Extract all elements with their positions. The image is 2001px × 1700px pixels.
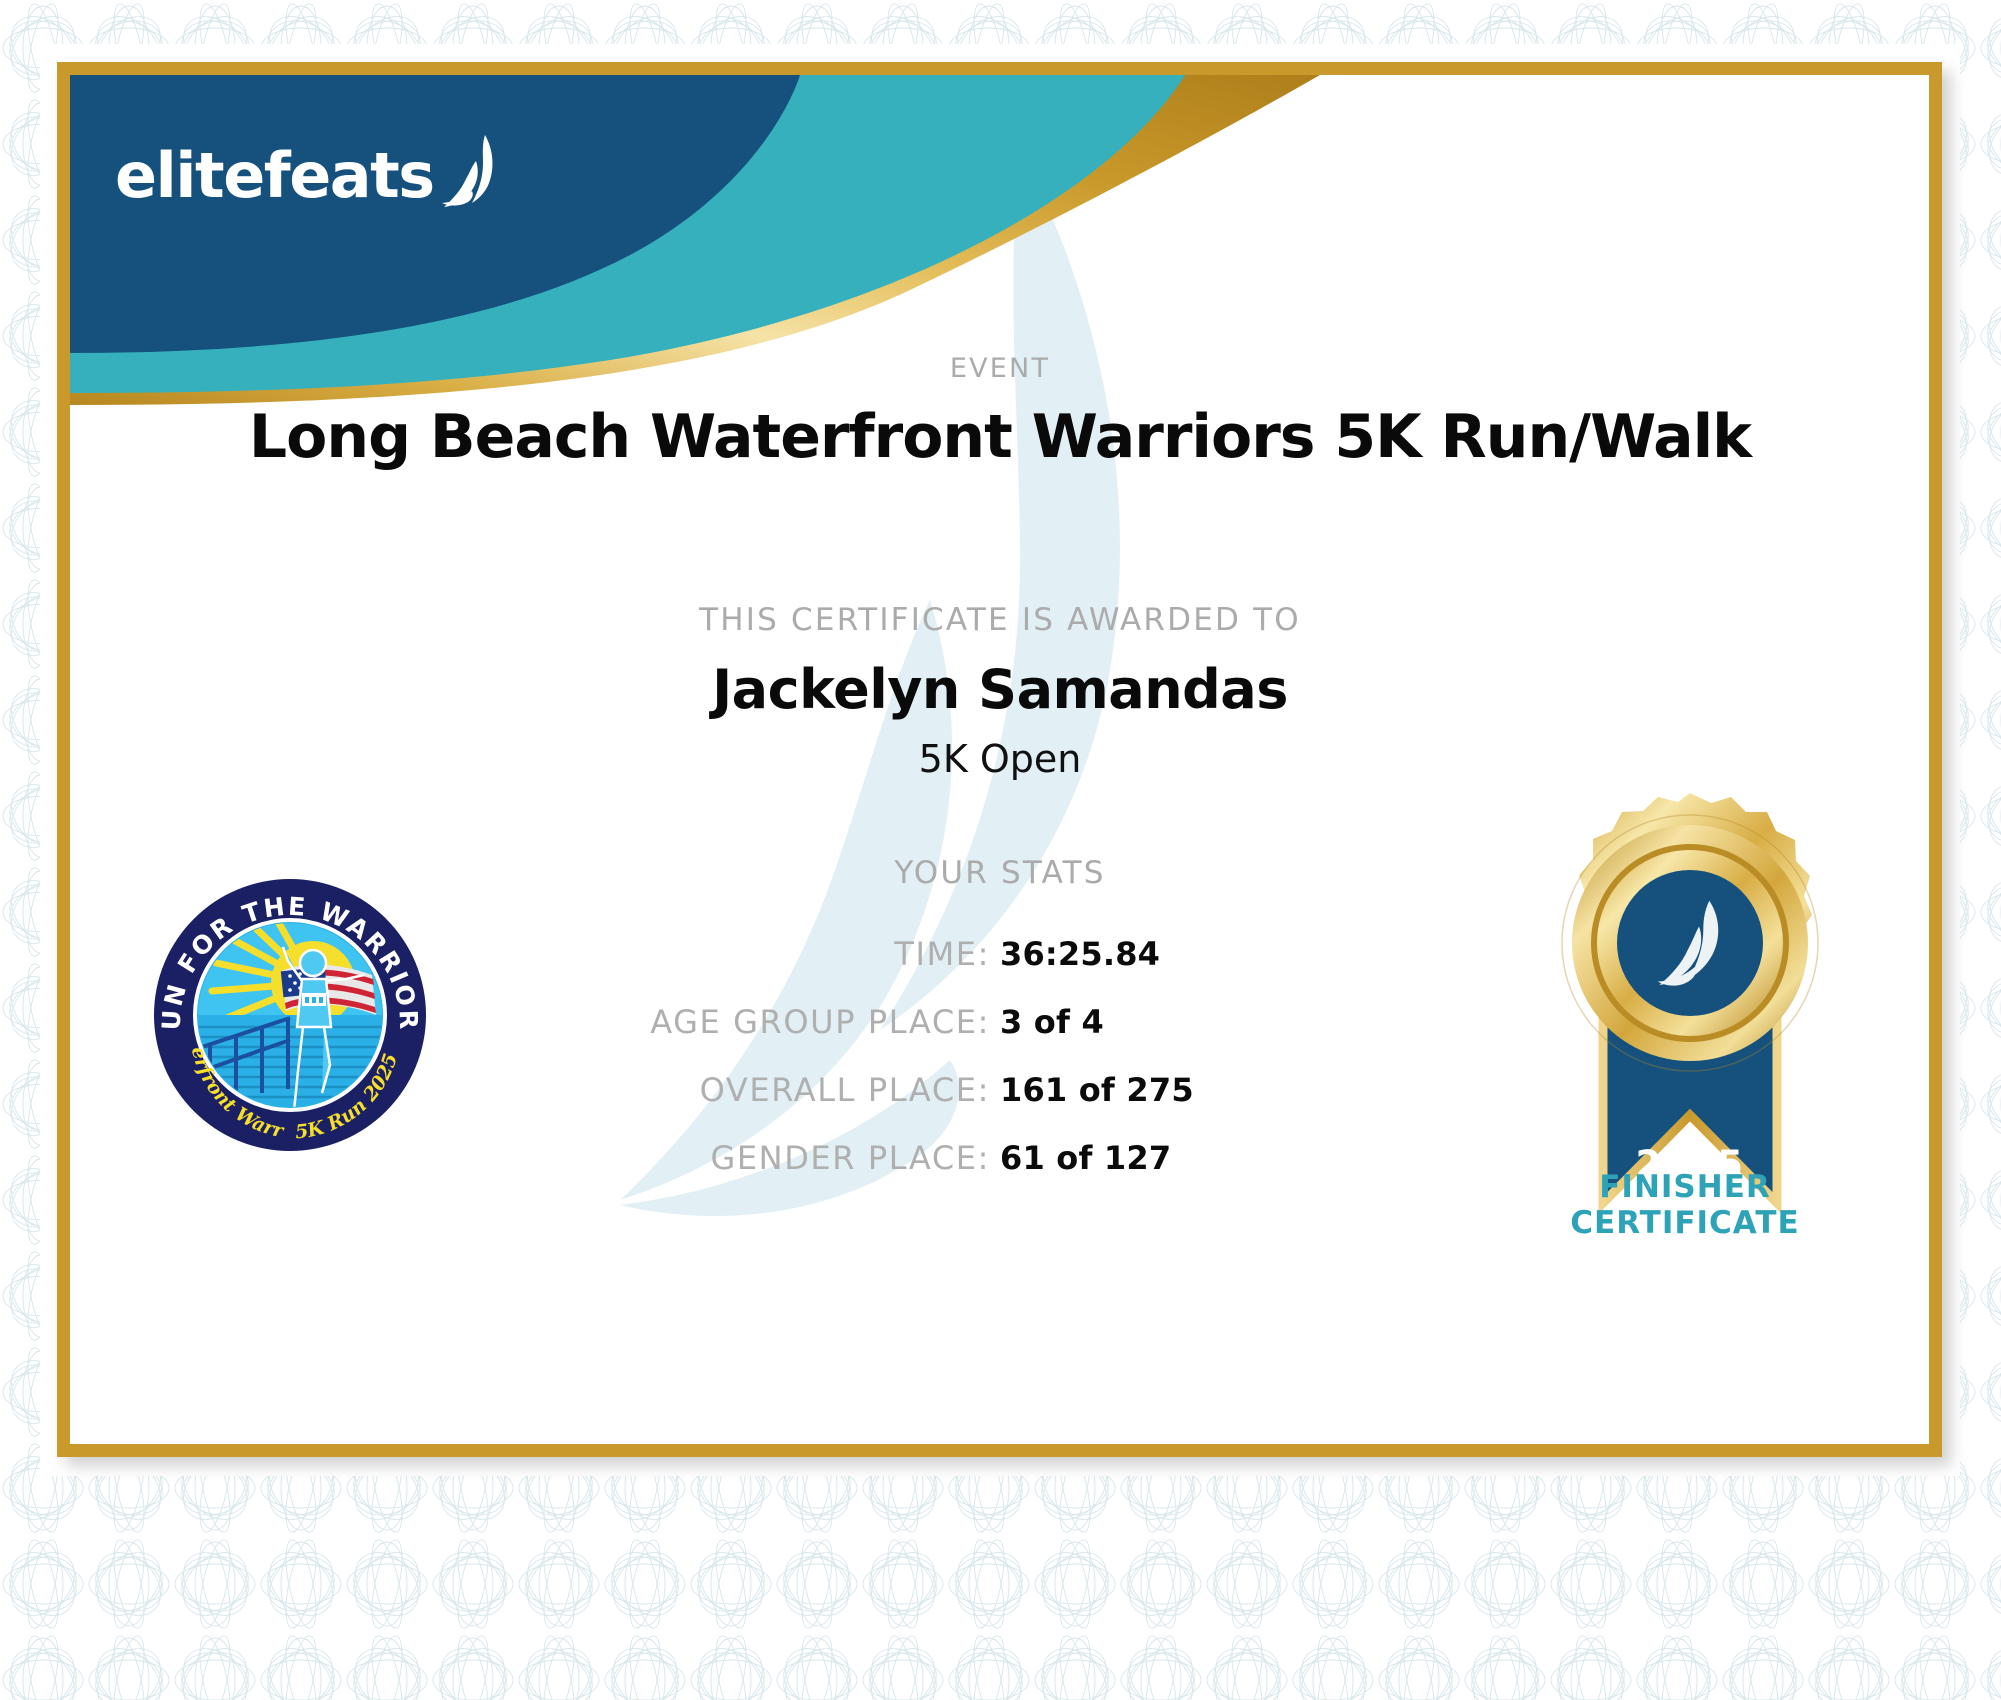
division-label: 5K Open [70, 737, 1929, 781]
finisher-caption-line1: FINISHER [1485, 1170, 1885, 1206]
stat-value-time: 36:25.84 [1000, 935, 1590, 973]
event-label: EVENT [70, 353, 1929, 384]
event-title: Long Beach Waterfront Warriors 5K Run/Wa… [70, 402, 1929, 472]
awarded-to-label: THIS CERTIFICATE IS AWARDED TO [70, 602, 1929, 638]
recipient-name: Jackelyn Samandas [70, 658, 1929, 721]
stat-label-overall-place: OVERALL PLACE: [410, 1071, 1000, 1109]
certificate-content: EVENT Long Beach Waterfront Warriors 5K … [70, 75, 1929, 1444]
stat-label-gender-place: GENDER PLACE: [410, 1139, 1000, 1177]
stat-value-overall-place: 161 of 275 [1000, 1071, 1590, 1109]
certificate-page: elitefeats EVENT Long Beach Waterfront W… [0, 0, 2001, 1700]
finisher-caption-line2: CERTIFICATE [1485, 1206, 1885, 1242]
stat-value-age-group-place: 3 of 4 [1000, 1003, 1590, 1041]
finisher-caption: FINISHER CERTIFICATE [1485, 1170, 1885, 1241]
race-logo-badge: RUN FOR THE WARRIORS Waterfront Warriors… [150, 875, 430, 1155]
stat-label-age-group-place: AGE GROUP PLACE: [410, 1003, 1000, 1041]
stat-label-time: TIME: [410, 935, 1000, 973]
certificate-card: elitefeats EVENT Long Beach Waterfront W… [57, 62, 1942, 1457]
